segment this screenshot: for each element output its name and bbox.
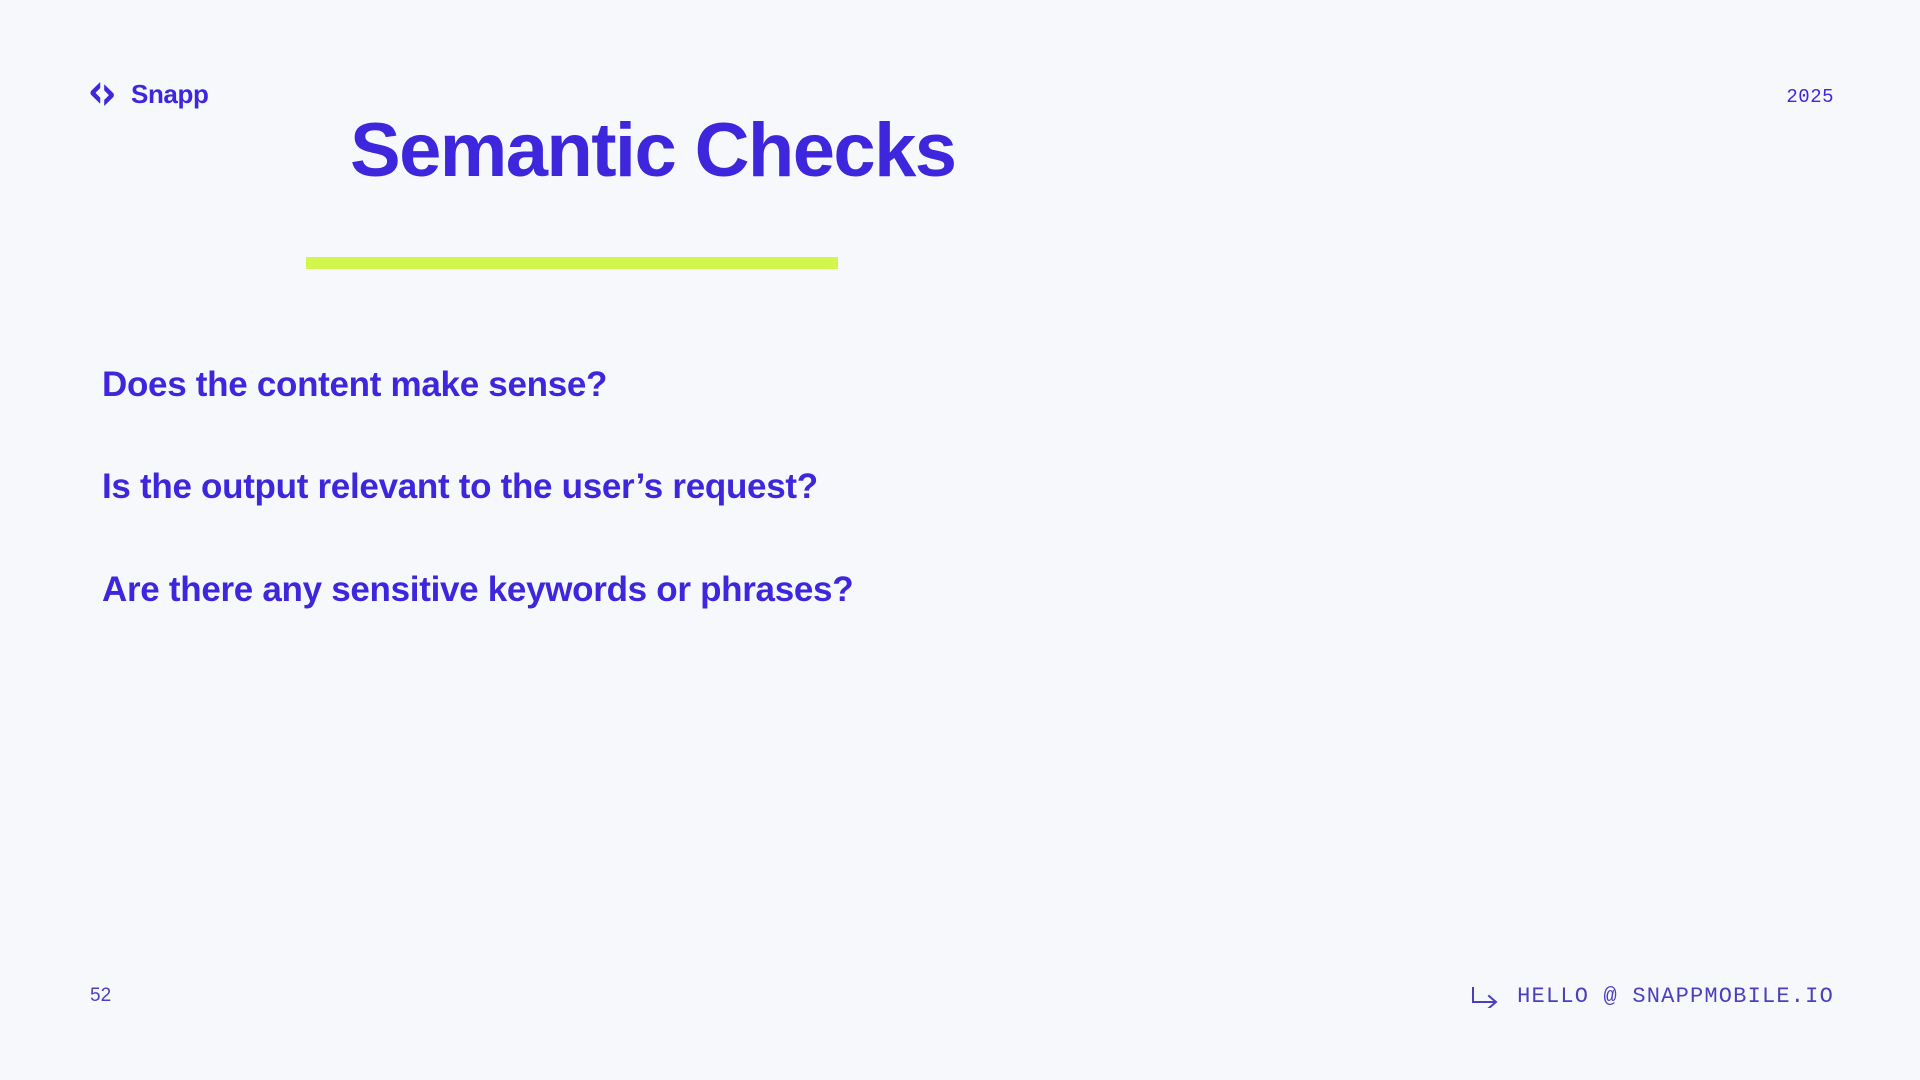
slide: Snapp Semantic Checks 2025 Does the cont…	[0, 0, 1920, 1080]
footer-email: HELLO @ SNAPPMOBILE.IO	[1517, 986, 1834, 1008]
snapp-chevron-logo-icon	[86, 77, 120, 111]
arrow-turn-down-right-icon	[1471, 986, 1499, 1008]
brand-logo: Snapp	[86, 74, 208, 114]
year-label: 2025	[1786, 88, 1834, 107]
accent-divider	[306, 257, 838, 269]
footer-contact: HELLO @ SNAPPMOBILE.IO	[1471, 986, 1834, 1008]
brand-name: Snapp	[131, 81, 208, 107]
list-item: Does the content make sense?	[102, 364, 1502, 405]
page-title: Semantic Checks	[350, 109, 955, 193]
list-item: Is the output relevant to the user’s req…	[102, 466, 1502, 507]
page-number: 52	[90, 986, 111, 1005]
list-item: Are there any sensitive keywords or phra…	[102, 569, 1502, 610]
content-list: Does the content make sense? Is the outp…	[102, 364, 1502, 610]
